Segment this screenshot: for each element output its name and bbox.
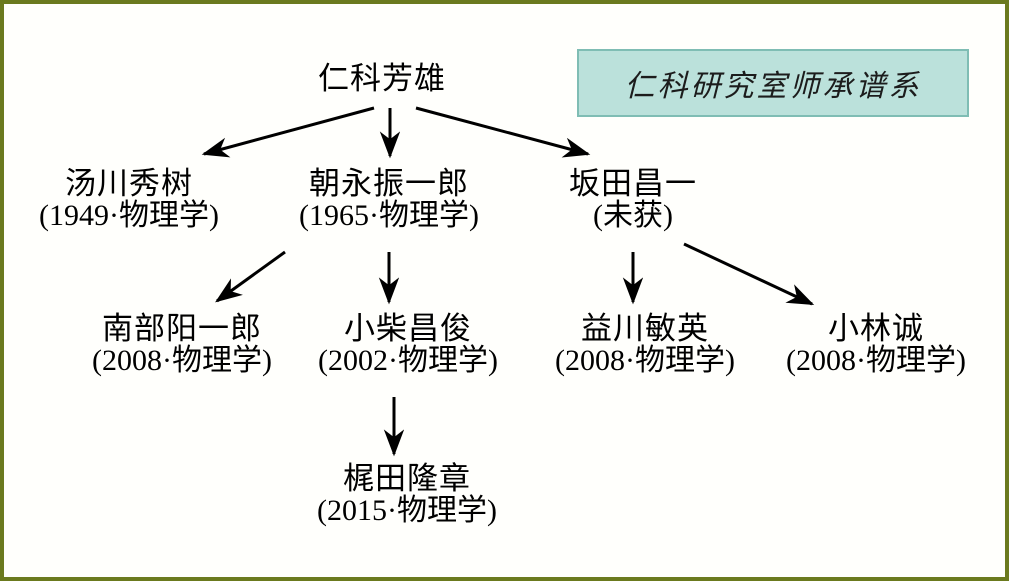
node-name: 益川敏英 <box>555 312 735 345</box>
arrow-sakata-to-kobayashi <box>684 244 812 304</box>
node-detail: (1965·物理学) <box>299 200 479 232</box>
node-yukawa: 汤川秀树(1949·物理学) <box>39 167 219 233</box>
node-detail: (2002·物理学) <box>318 345 498 377</box>
node-detail: (2008·物理学) <box>555 345 735 377</box>
lineage-diagram-page: 仁科芳雄汤川秀树(1949·物理学)朝永振一郎(1965·物理学)坂田昌一(未获… <box>0 0 1009 581</box>
arrow-nishina-to-sakata <box>416 108 588 154</box>
arrow-group <box>204 108 812 454</box>
node-name: 南部阳一郎 <box>92 312 272 345</box>
title-box: 仁科研究室师承谱系 <box>577 49 969 117</box>
arrow-tomonaga-to-nambu <box>217 252 285 301</box>
node-name: 汤川秀树 <box>39 167 219 200</box>
node-name: 小柴昌俊 <box>318 312 498 345</box>
node-detail: (2008·物理学) <box>786 345 966 377</box>
node-name: 仁科芳雄 <box>318 62 446 95</box>
node-detail: (2008·物理学) <box>92 345 272 377</box>
node-kajita: 梶田隆章(2015·物理学) <box>317 462 497 528</box>
node-name: 坂田昌一 <box>569 167 697 200</box>
arrow-nishina-to-yukawa <box>204 108 374 154</box>
node-detail: (1949·物理学) <box>39 200 219 232</box>
node-nishina: 仁科芳雄 <box>318 62 446 95</box>
node-name: 小林诚 <box>786 312 966 345</box>
node-name: 梶田隆章 <box>317 462 497 495</box>
node-sakata: 坂田昌一(未获) <box>569 167 697 233</box>
node-name: 朝永振一郎 <box>299 167 479 200</box>
node-detail: (2015·物理学) <box>317 495 497 527</box>
node-nambu: 南部阳一郎(2008·物理学) <box>92 312 272 378</box>
node-kobayashi: 小林诚(2008·物理学) <box>786 312 966 378</box>
node-detail: (未获) <box>569 200 697 232</box>
node-koshiba: 小柴昌俊(2002·物理学) <box>318 312 498 378</box>
node-maskawa: 益川敏英(2008·物理学) <box>555 312 735 378</box>
diagram-title: 仁科研究室师承谱系 <box>625 61 922 105</box>
node-tomonaga: 朝永振一郎(1965·物理学) <box>299 167 479 233</box>
